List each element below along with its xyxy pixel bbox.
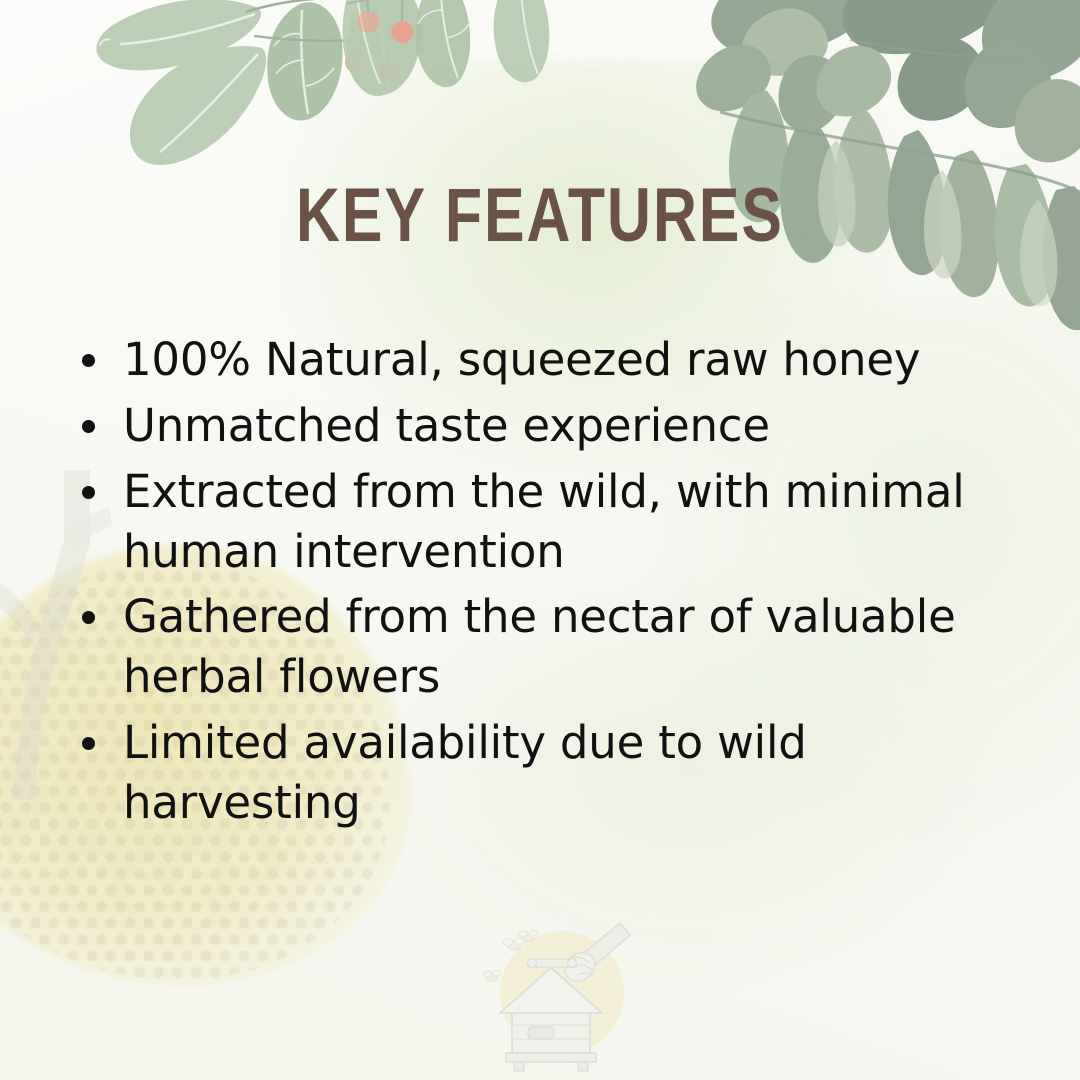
bullet-icon	[82, 611, 95, 624]
list-item-label: Unmatched taste experience	[123, 396, 1053, 456]
pink-berries-icon	[357, 0, 413, 43]
list-item: Gathered from the nectar of valuable her…	[78, 587, 1053, 707]
list-item-label: Extracted from the wild, with minimal hu…	[123, 462, 1053, 582]
bullet-icon	[82, 354, 95, 367]
list-item-label: Gathered from the nectar of valuable her…	[123, 587, 1053, 707]
page-title: KEY FEATURES	[108, 178, 972, 254]
list-item-label: 100% Natural, squeezed raw honey	[123, 330, 1053, 390]
list-item: 100% Natural, squeezed raw honey	[78, 330, 1053, 390]
bullet-icon	[82, 737, 95, 750]
dense-foliage-icon	[600, 0, 1080, 330]
poster-canvas: KEY FEATURES 100% Natural, squeezed raw …	[0, 0, 1080, 1080]
list-item: Limited availability due to wild harvest…	[78, 713, 1053, 833]
bullet-icon	[82, 420, 95, 433]
key-features-list: 100% Natural, squeezed raw honey Unmatch…	[78, 330, 1053, 839]
pink-berries-icon	[345, 18, 398, 82]
beehive-with-honey-dipper-icon	[470, 915, 650, 1080]
list-item: Extracted from the wild, with minimal hu…	[78, 462, 1053, 582]
list-item: Unmatched taste experience	[78, 396, 1053, 456]
bullet-icon	[82, 486, 95, 499]
list-item-label: Limited availability due to wild harvest…	[123, 713, 1053, 833]
